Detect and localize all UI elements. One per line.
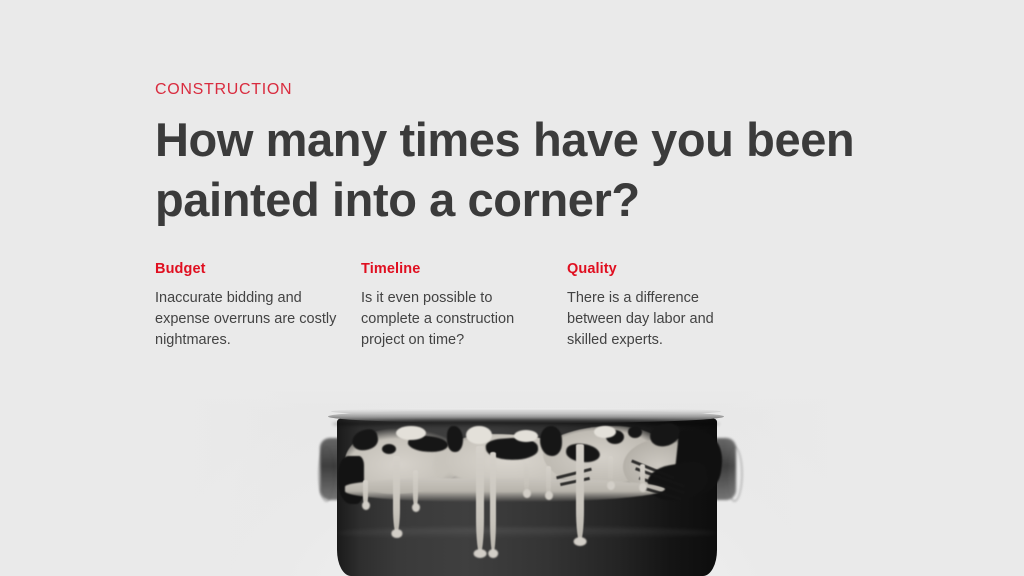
feature-body: Inaccurate bidding and expense overruns …	[155, 288, 339, 351]
paint-gap	[447, 426, 463, 452]
feature-body: There is a difference between day labor …	[567, 288, 751, 351]
slide: CONSTRUCTION How many times have you bee…	[0, 0, 1024, 576]
feature-title: Budget	[155, 262, 339, 277]
paint-drip	[640, 464, 645, 488]
paint-gap	[338, 456, 364, 504]
paint-highlight	[594, 426, 616, 438]
paint-drip	[546, 466, 551, 496]
paint-gap	[628, 426, 642, 438]
slide-text-content: CONSTRUCTION How many times have you bee…	[155, 82, 915, 229]
paint-highlight	[466, 426, 492, 444]
feature-body: Is it even possible to complete a constr…	[361, 288, 545, 351]
eyebrow-label: CONSTRUCTION	[155, 82, 915, 98]
paint-drip	[363, 480, 368, 506]
paint-gap	[540, 426, 562, 456]
paint-gap	[382, 444, 396, 454]
feature-columns: Budget Inaccurate bidding and expense ov…	[155, 262, 935, 351]
paint-highlight	[514, 430, 538, 442]
feature-column-budget: Budget Inaccurate bidding and expense ov…	[155, 262, 361, 351]
paint-drip	[476, 446, 484, 554]
feature-title: Quality	[567, 262, 751, 277]
feature-column-quality: Quality There is a difference between da…	[567, 262, 773, 351]
paint-highlight	[396, 426, 426, 440]
page-title: How many times have you been painted int…	[155, 110, 855, 229]
photo-edge-fade-top	[0, 360, 1024, 414]
paint-drip	[393, 456, 400, 534]
paint-drip	[576, 444, 584, 542]
feature-title: Timeline	[361, 262, 545, 277]
paint-drip	[490, 452, 496, 554]
paint-drip	[413, 470, 418, 508]
feature-column-timeline: Timeline Is it even possible to complete…	[361, 262, 567, 351]
paint-drip	[524, 460, 529, 494]
paint-drip	[608, 456, 613, 486]
paint-can-photo	[0, 360, 1024, 576]
